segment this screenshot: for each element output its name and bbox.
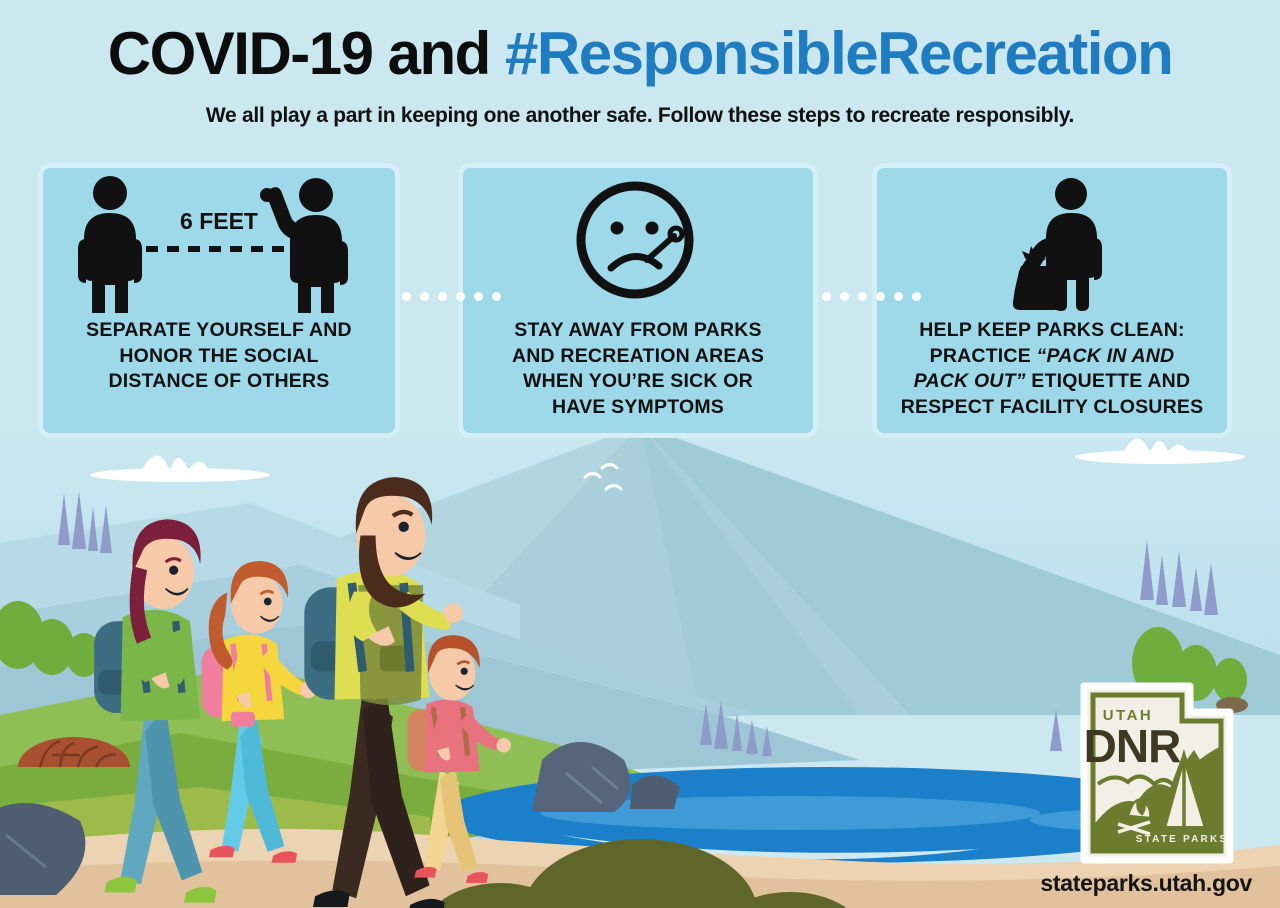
card-3-italic-a: “PACK IN AND — [1037, 345, 1175, 367]
card-1-line-2: HONOR THE SOCIAL — [86, 344, 352, 370]
card-1-text: SEPARATE YOURSELF AND HONOR THE SOCIAL D… — [72, 318, 366, 395]
dot — [420, 292, 429, 301]
dot — [840, 292, 849, 301]
card-pack-in-pack-out[interactable]: HELP KEEP PARKS CLEAN: PRACTICE “PACK IN… — [872, 163, 1232, 438]
dot — [492, 292, 501, 301]
steps-card-row: 6 FEET SEPARATE YOURSELF AND HONOR THE S… — [0, 163, 1280, 438]
logo-state-parks-label: STATE PARKS — [1136, 834, 1229, 845]
utah-dnr-state-parks-logo[interactable]: UTAH DNR STATE PARKS — [1072, 678, 1242, 873]
card-2-line-3: WHEN YOU’RE SICK OR — [512, 369, 764, 395]
card-1-line-1: SEPARATE YOURSELF AND — [86, 318, 352, 344]
card-3-italic-b: PACK OUT” — [914, 370, 1026, 392]
page-subtitle: We all play a part in keeping one anothe… — [0, 104, 1280, 128]
dot — [456, 292, 465, 301]
connector-dots-1 — [402, 292, 501, 301]
card-3-line-2: PRACTICE “PACK IN AND — [901, 344, 1204, 370]
logo-dnr-label: DNR — [1084, 720, 1181, 772]
dot — [438, 292, 447, 301]
dot — [912, 292, 921, 301]
two-people-6-feet-icon: 6 FEET — [43, 168, 395, 318]
dot — [402, 292, 411, 301]
title-main: COVID-19 and — [108, 20, 505, 87]
page-title: COVID-19 and #ResponsibleRecreation — [0, 0, 1280, 84]
card-2-line-1: STAY AWAY FROM PARKS — [512, 318, 764, 344]
dot — [858, 292, 867, 301]
website-url[interactable]: stateparks.utah.gov — [1040, 870, 1252, 897]
person-with-trash-bag-icon — [877, 168, 1227, 318]
dot — [474, 292, 483, 301]
card-social-distance[interactable]: 6 FEET SEPARATE YOURSELF AND HONOR THE S… — [38, 163, 400, 438]
dot — [876, 292, 885, 301]
title-hashtag: #ResponsibleRecreation — [505, 20, 1172, 87]
card-3-line-3: PACK OUT” ETIQUETTE AND — [901, 369, 1204, 395]
connector-dots-2 — [822, 292, 921, 301]
dot — [822, 292, 831, 301]
card-3-text: HELP KEEP PARKS CLEAN: PRACTICE “PACK IN… — [887, 318, 1218, 421]
card-2-line-2: AND RECREATION AREAS — [512, 344, 764, 370]
poster-header: COVID-19 and #ResponsibleRecreation We a… — [0, 0, 1280, 128]
sick-face-thermometer-icon — [463, 168, 813, 318]
card-2-text: STAY AWAY FROM PARKS AND RECREATION AREA… — [498, 318, 778, 421]
card-2-line-4: HAVE SYMPTOMS — [512, 395, 764, 421]
card-stay-away-when-sick[interactable]: STAY AWAY FROM PARKS AND RECREATION AREA… — [458, 163, 818, 438]
card-3-line-1: HELP KEEP PARKS CLEAN: — [901, 318, 1204, 344]
dot — [894, 292, 903, 301]
card-3-line-4: RESPECT FACILITY CLOSURES — [901, 395, 1204, 421]
infographic-poster: COVID-19 and #ResponsibleRecreation We a… — [0, 0, 1280, 908]
six-feet-label: 6 FEET — [180, 208, 258, 234]
card-1-line-3: DISTANCE OF OTHERS — [86, 369, 352, 395]
